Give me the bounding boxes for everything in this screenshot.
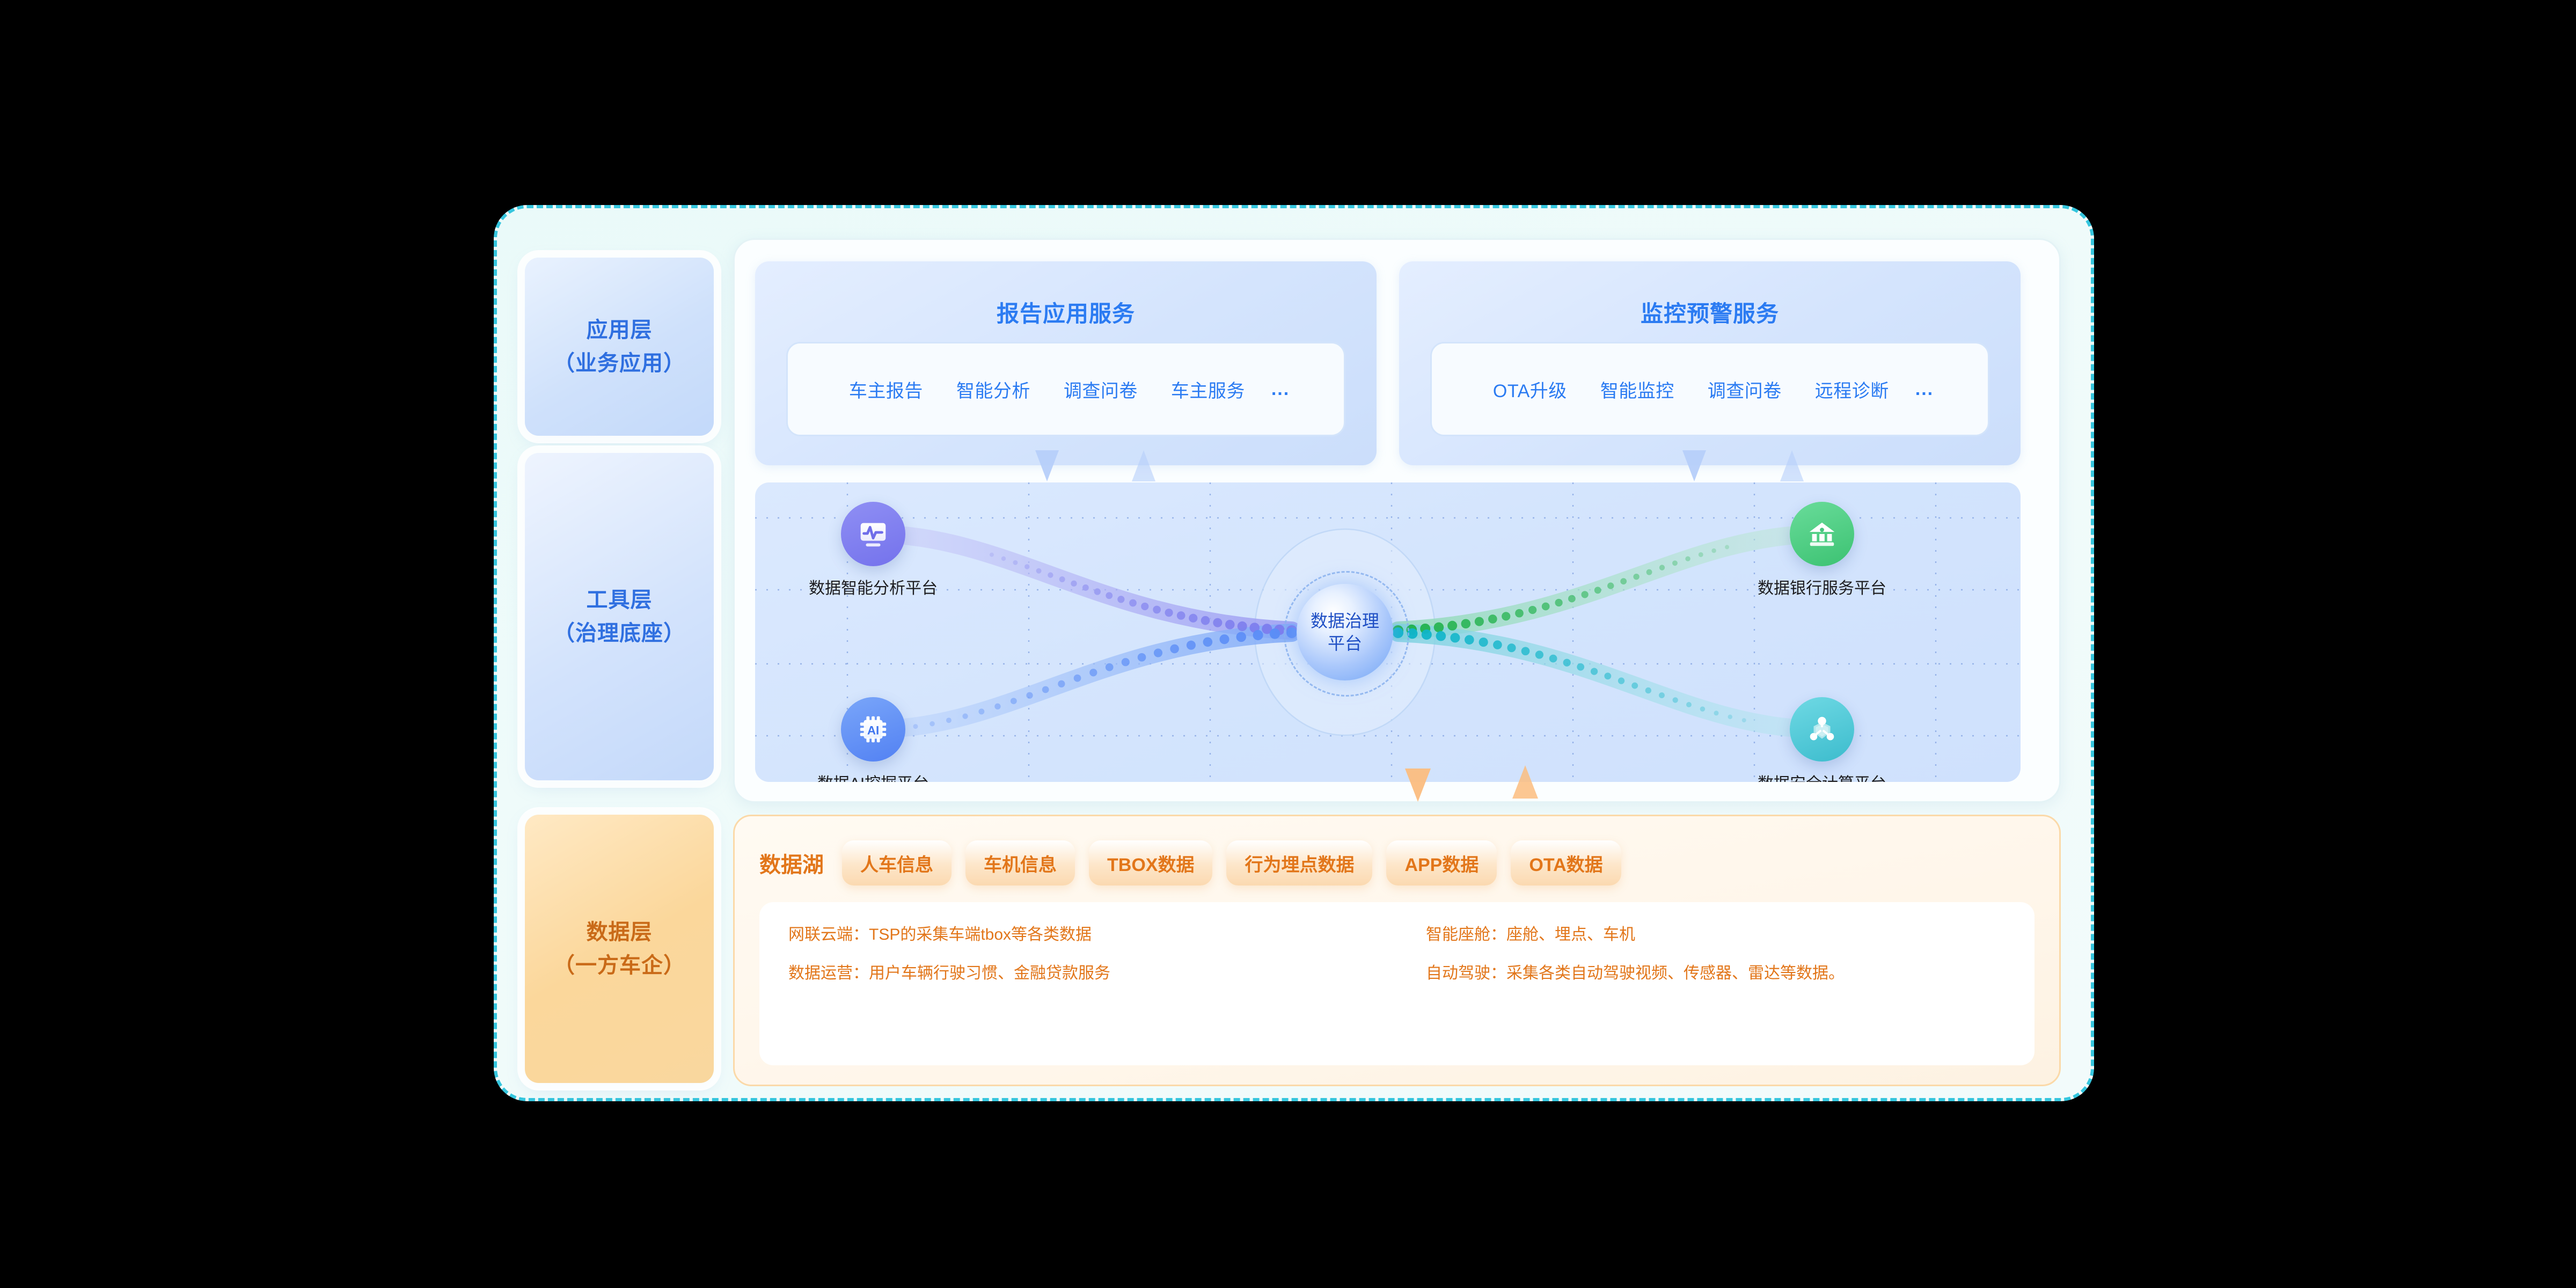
node-label: 数据银行服务平台 — [1758, 575, 1886, 598]
shield-network-icon — [1790, 697, 1854, 762]
data-lake-title: 数据湖 — [759, 847, 824, 879]
monitor-pulse-icon — [841, 502, 905, 566]
data-note: 网联云端：TSP的采集车端tbox等各类数据 — [788, 927, 1397, 943]
app-chip[interactable]: 智能分析 — [940, 376, 1047, 402]
app-chip[interactable]: OTA升级 — [1476, 376, 1584, 402]
data-lake-row: 数据湖 人车信息 车机信息 TBOX数据 行为埋点数据 APP数据 OTA数据 — [759, 839, 2035, 887]
app-chip-group: OTA升级 智能监控 调查问卷 远程诊断 ... — [1430, 342, 1989, 436]
node-data-secure-compute-platform[interactable]: 数据安全计算平台 — [1758, 697, 1886, 782]
tool-layer-panel: 数据智能分析平台 — [755, 482, 2021, 782]
app-chip-group: 车主报告 智能分析 调查问卷 车主服务 ... — [786, 342, 1345, 436]
arrow-up-icon — [1132, 450, 1155, 481]
node-label: 数据安全计算平台 — [1758, 770, 1886, 782]
data-notes-right-column: 智能座舱：座舱、埋点、车机 自动驾驶：采集各类自动驾驶视频、传感器、雷达等数据。 — [1397, 902, 2035, 1065]
monitor-pulse-icon-glyph — [857, 517, 890, 551]
app-panel-monitor-alert-service[interactable]: 监控预警服务 OTA升级 智能监控 调查问卷 远程诊断 ... — [1399, 261, 2021, 465]
arrow-up-icon — [1512, 765, 1538, 799]
data-lake-tag[interactable]: 车机信息 — [965, 840, 1075, 885]
bank-icon — [1790, 502, 1854, 566]
hub-core: 数据治理平台 — [1297, 584, 1393, 680]
hub-label-line2: 平台 — [1328, 634, 1362, 653]
layer-rail-tool[interactable]: 工具层 （治理底座） — [525, 453, 714, 780]
arrow-down-icon — [1405, 769, 1431, 802]
layer-rail-tool-label: 工具层 （治理底座） — [553, 583, 685, 650]
layer-rail-data-label: 数据层 （一方车企） — [553, 916, 685, 982]
layer-name: 数据层 — [553, 916, 685, 949]
app-panel-title: 监控预警服务 — [1399, 296, 2021, 328]
layer-sub: （一方车企） — [553, 949, 685, 982]
data-notes-left-column: 网联云端：TSP的采集车端tbox等各类数据 数据运营：用户车辆行驶习惯、金融贷… — [759, 902, 1397, 1065]
data-lake-tag[interactable]: 行为埋点数据 — [1226, 840, 1372, 885]
ai-chip-icon: AI — [841, 697, 905, 762]
layer-rail-application-label: 应用层 （业务应用） — [553, 313, 685, 380]
arrow-down-icon — [1035, 450, 1059, 481]
ai-chip-icon-glyph: AI — [857, 713, 890, 746]
arrow-down-icon — [1682, 450, 1706, 481]
layer-name: 工具层 — [553, 583, 685, 617]
architecture-frame: 应用层 （业务应用） 工具层 （治理底座） 数据层 （一方车企） 报告应用服务 … — [494, 205, 2094, 1101]
app-chip[interactable]: 车主报告 — [832, 376, 940, 402]
app-chip[interactable]: 调查问卷 — [1691, 376, 1798, 402]
node-data-bank-platform[interactable]: 数据银行服务平台 — [1758, 502, 1886, 598]
arrow-up-icon — [1780, 450, 1804, 481]
data-note: 智能座舱：座舱、埋点、车机 — [1426, 927, 2035, 943]
app-panel-title: 报告应用服务 — [755, 296, 1377, 328]
layer-rail-data[interactable]: 数据层 （一方车企） — [525, 815, 714, 1083]
data-lake-tag[interactable]: OTA数据 — [1511, 840, 1621, 885]
app-chip-more[interactable]: ... — [1262, 379, 1299, 400]
data-notes-box: 网联云端：TSP的采集车端tbox等各类数据 数据运营：用户车辆行驶习惯、金融贷… — [759, 902, 2035, 1065]
data-layer-panel: 数据湖 人车信息 车机信息 TBOX数据 行为埋点数据 APP数据 OTA数据 … — [733, 815, 2061, 1086]
upper-section-wrapper: 报告应用服务 车主报告 智能分析 调查问卷 车主服务 ... 监控预警服务 OT… — [733, 238, 2061, 803]
shield-network-icon-glyph — [1805, 713, 1839, 746]
app-panel-report-service[interactable]: 报告应用服务 车主报告 智能分析 调查问卷 车主服务 ... — [755, 261, 1377, 465]
node-data-ai-mining-platform[interactable]: AI 数据AI挖掘平台 — [809, 697, 938, 782]
svg-text:AI: AI — [867, 724, 879, 737]
node-label: 数据智能分析平台 — [809, 575, 938, 598]
diagram-canvas: 应用层 （业务应用） 工具层 （治理底座） 数据层 （一方车企） 报告应用服务 … — [0, 0, 2576, 1288]
data-lake-tag[interactable]: 人车信息 — [842, 840, 952, 885]
hub-label: 数据治理平台 — [1311, 610, 1379, 655]
app-chip[interactable]: 远程诊断 — [1798, 376, 1906, 402]
hub-label-line1: 数据治理 — [1311, 611, 1379, 631]
app-chip[interactable]: 智能监控 — [1584, 376, 1691, 402]
bank-icon-glyph — [1805, 517, 1839, 551]
app-chip-more[interactable]: ... — [1906, 379, 1943, 400]
app-chip[interactable]: 调查问卷 — [1047, 376, 1154, 402]
layer-sub: （治理底座） — [553, 617, 685, 650]
node-data-analysis-platform[interactable]: 数据智能分析平台 — [809, 502, 938, 598]
data-lake-tag[interactable]: APP数据 — [1386, 840, 1497, 885]
hub-data-governance-platform[interactable]: 数据治理平台 — [1280, 568, 1409, 697]
node-label: 数据AI挖掘平台 — [809, 770, 938, 782]
layer-name: 应用层 — [553, 313, 685, 347]
app-chip[interactable]: 车主服务 — [1154, 376, 1262, 402]
layer-rail-application[interactable]: 应用层 （业务应用） — [525, 258, 714, 436]
data-note: 数据运营：用户车辆行驶习惯、金融贷款服务 — [788, 965, 1397, 982]
data-note: 自动驾驶：采集各类自动驾驶视频、传感器、雷达等数据。 — [1426, 965, 2035, 982]
layer-sub: （业务应用） — [553, 347, 685, 380]
data-lake-tag[interactable]: TBOX数据 — [1089, 840, 1212, 885]
